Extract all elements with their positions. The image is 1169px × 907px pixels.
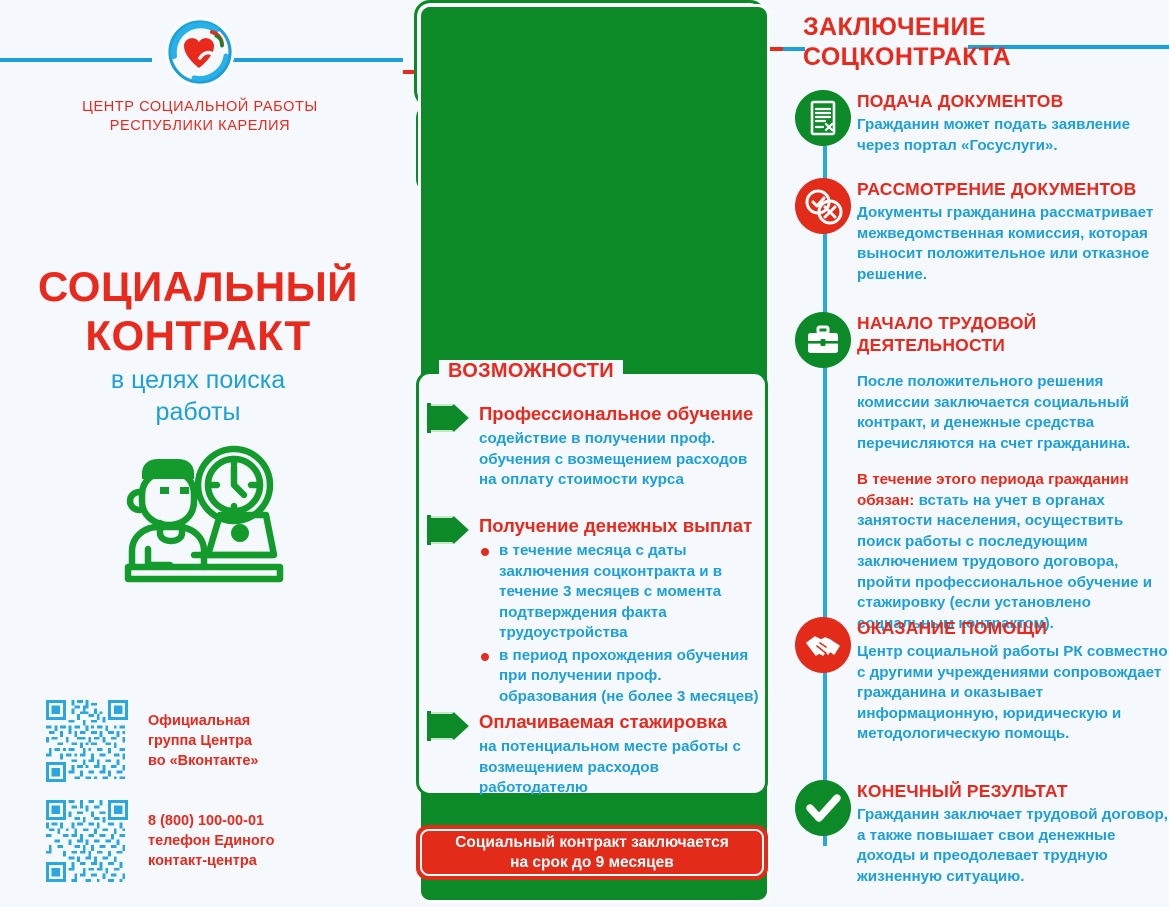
- timeline-step: НАЧАЛО ТРУДОВОЙ ДЕЯТЕЛЬНОСТИ После полож…: [795, 312, 1169, 634]
- timeline-step-title: РАССМОТРЕНИЕ ДОКУМЕНТОВ: [857, 178, 1169, 200]
- qr-block-vk[interactable]: Официальная группа Центра во «Вконтакте»: [46, 700, 258, 782]
- opportunity-bullet: в период прохождения обучения при получе…: [479, 646, 759, 708]
- page-title-line2: КОНТРАКТ: [28, 311, 368, 360]
- obligations-rest: встать на учет в органах занятости насел…: [857, 492, 1152, 632]
- right-header-line1: ЗАКЛЮЧЕНИЕ: [803, 12, 1103, 42]
- qr-caption-vk-line3: во «Вконтакте»: [148, 751, 258, 771]
- qr-caption-vk: Официальная группа Центра во «Вконтакте»: [148, 711, 258, 771]
- page-title: СОЦИАЛЬНЫЙ КОНТРАКТ: [28, 262, 368, 360]
- qr-caption-vk-line2: группа Центра: [148, 731, 258, 751]
- contract-term-line1: Социальный контракт заключается: [455, 833, 729, 853]
- timeline-step-title-line1: НАЧАЛО ТРУДОВОЙ: [857, 312, 1169, 334]
- right-column-timeline: ПОДАЧА ДОКУМЕНТОВ Гражданин может подать…: [795, 90, 1169, 907]
- opportunity-bullet-list: в течение месяца с даты заключения соцко…: [479, 541, 759, 707]
- opportunity-item: Профессиональное обучение содействие в п…: [429, 402, 759, 491]
- document-submit-icon: [795, 90, 851, 146]
- timeline-step-text: Гражданин может подать заявление через п…: [857, 115, 1169, 156]
- heart-logo-icon: [160, 16, 240, 92]
- organization-logo-block: ЦЕНТР СОЦИАЛЬНОЙ РАБОТЫ РЕСПУБЛИКИ КАРЕЛ…: [40, 16, 360, 136]
- qr-caption-vk-line1: Официальная: [148, 711, 258, 731]
- opportunity-item: Оплачиваемая стажировка на потенциальном…: [429, 710, 759, 799]
- timeline-step: ПОДАЧА ДОКУМЕНТОВ Гражданин может подать…: [795, 90, 1169, 156]
- middle-column: ПРЕДОСТАВЛЯЕТСЯ гражданам из малоимущих …: [414, 0, 774, 907]
- right-header: ЗАКЛЮЧЕНИЕ СОЦКОНТРАКТА: [803, 12, 1103, 72]
- timeline-step-obligations: В течение этого периода гражданин обязан…: [857, 470, 1169, 634]
- opportunity-desc: на потенциальном месте работы с возмещен…: [479, 737, 759, 799]
- right-header-line2: СОЦКОНТРАКТА: [803, 42, 1103, 72]
- org-name-line1: ЦЕНТР СОЦИАЛЬНОЙ РАБОТЫ: [40, 98, 360, 117]
- opportunity-title: Оплачиваемая стажировка: [479, 710, 759, 733]
- timeline-step-title: ОКАЗАНИЕ ПОМОЩИ: [857, 617, 1169, 639]
- income-requirement-card: Среднедушевой доход не должен превышать …: [414, 0, 766, 107]
- qr-caption-phone-line2: телефон Единого: [148, 831, 275, 851]
- org-name-line2: РЕСПУБЛИКИ КАРЕЛИЯ: [40, 117, 360, 136]
- contract-term-line2: на срок до 9 месяцев: [455, 853, 729, 873]
- timeline-step-text: Гражданин заключает трудовой договор, а …: [857, 805, 1169, 887]
- infographic-page: ЦЕНТР СОЦИАЛЬНОЙ РАБОТЫ РЕСПУБЛИКИ КАРЕЛ…: [0, 0, 1169, 907]
- green-arrow-marker-icon: [427, 711, 471, 741]
- qr-code-icon[interactable]: [46, 700, 128, 782]
- opportunity-desc: содействие в получении проф. обучения с …: [479, 429, 759, 491]
- timeline-step-text: После положительного решения комиссии за…: [857, 372, 1169, 454]
- handshake-icon: [795, 617, 851, 673]
- page-subtitle-line2: работы: [28, 396, 368, 428]
- page-title-line1: СОЦИАЛЬНЫЙ: [28, 262, 368, 311]
- timeline-step-text: Документы гражданина рассматривает межве…: [857, 203, 1169, 285]
- opportunity-title: Получение денежных выплат: [479, 514, 759, 537]
- timeline-step: ОКАЗАНИЕ ПОМОЩИ Центр социальной работы …: [795, 617, 1169, 745]
- timeline-step-title: КОНЕЧНЫЙ РЕЗУЛЬТАТ: [857, 780, 1169, 802]
- contact-phone-number: 8 (800) 100-00-01: [148, 811, 275, 831]
- page-subtitle-line1: в целях поиска: [28, 364, 368, 396]
- header-rule-blue-small: [783, 47, 805, 51]
- qr-caption-phone-line3: контакт-центра: [148, 851, 275, 871]
- timeline-step-title: ПОДАЧА ДОКУМЕНТОВ: [857, 90, 1169, 112]
- timeline-step-title-line2: ДЕЯТЕЛЬНОСТИ: [857, 334, 1169, 356]
- briefcase-icon: [795, 312, 851, 368]
- contract-term-banner: Социальный контракт заключается на срок …: [416, 825, 768, 880]
- timeline-step-text: Центр социальной работы РК совместно с д…: [857, 642, 1169, 745]
- opportunity-title: Профессиональное обучение: [479, 402, 759, 425]
- qr-code-icon[interactable]: [46, 800, 128, 882]
- timeline-step: КОНЕЧНЫЙ РЕЗУЛЬТАТ Гражданин заключает т…: [795, 780, 1169, 887]
- green-arrow-marker-icon: [427, 403, 471, 433]
- opportunities-card: ВОЗМОЖНОСТИ Профессиональное обучение со…: [416, 371, 768, 796]
- opportunity-item: Получение денежных выплат в течение меся…: [429, 514, 759, 709]
- green-arrow-marker-icon: [427, 515, 471, 545]
- document-review-icon: [795, 178, 851, 234]
- opportunity-bullet: в течение месяца с даты заключения соцко…: [479, 541, 759, 644]
- timeline-step: РАССМОТРЕНИЕ ДОКУМЕНТОВ Документы гражда…: [795, 178, 1169, 285]
- page-subtitle: в целях поиска работы: [28, 364, 368, 428]
- qr-block-phone[interactable]: 8 (800) 100-00-01 телефон Единого контак…: [46, 800, 275, 882]
- person-at-laptop-with-clock-icon: [112, 437, 292, 597]
- checkmark-circle-icon: [795, 780, 851, 836]
- qr-caption-phone: 8 (800) 100-00-01 телефон Единого контак…: [148, 811, 275, 871]
- opportunities-legend: ВОЗМОЖНОСТИ: [439, 360, 623, 383]
